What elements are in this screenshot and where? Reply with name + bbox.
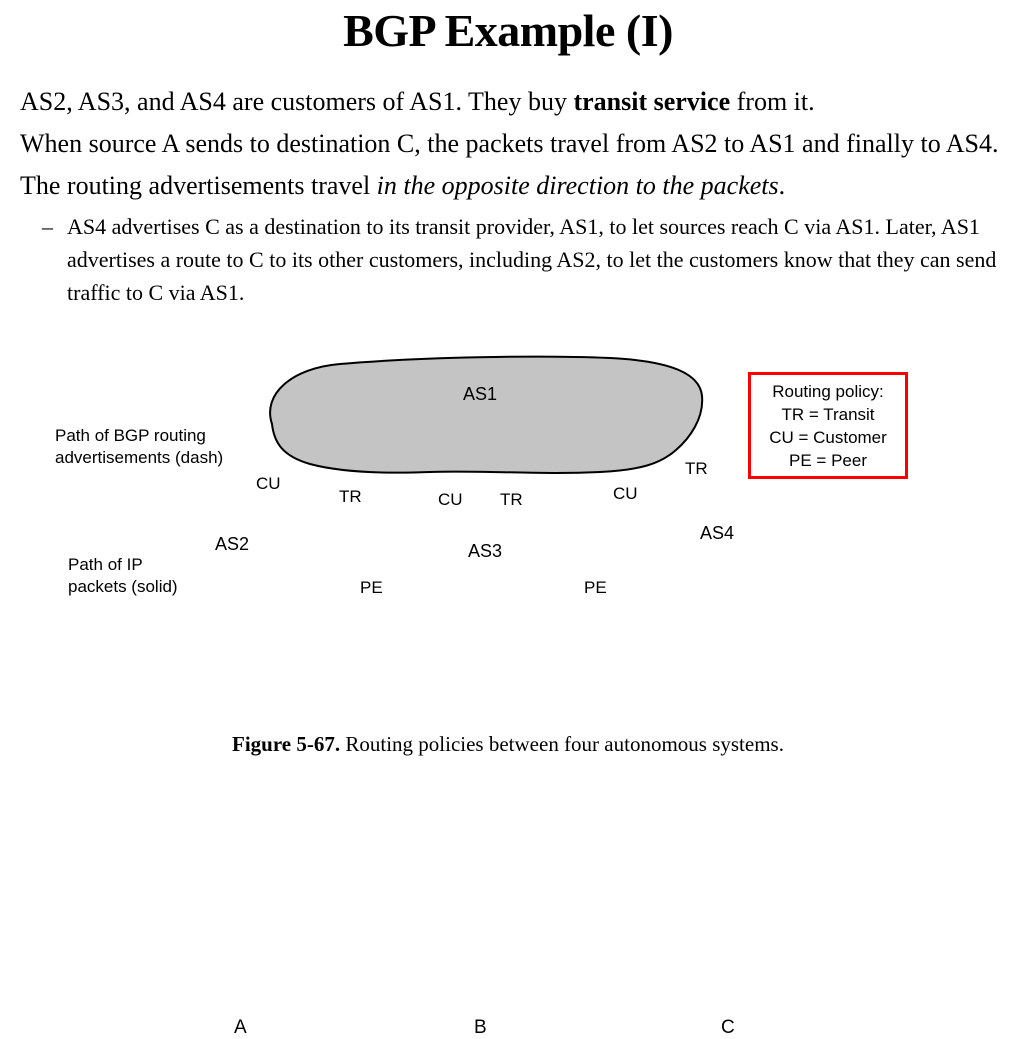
legend-entry-peer: PE = Peer [789, 449, 867, 472]
figure-caption-text: Routing policies between four autonomous… [345, 732, 784, 756]
bullet-item: – AS4 advertises C as a destination to i… [42, 210, 1002, 309]
as3-cu-label: CU [438, 490, 463, 510]
paragraph-3-seg-2-italic: in the opposite direction to the packets [377, 171, 779, 200]
as3-as4-pe-label: PE [584, 578, 607, 598]
page-title: BGP Example (I) [0, 4, 1016, 58]
ip-path-annotation: Path of IP packets (solid) [68, 554, 218, 598]
paragraph-3: The routing advertisements travel in the… [20, 166, 1002, 206]
as2-as3-pe-label: PE [360, 578, 383, 598]
ip-path-annotation-line2: packets (solid) [68, 576, 218, 598]
paragraph-1-seg-1: AS2, AS3, and AS4 are customers of AS1. … [20, 87, 573, 116]
legend-entry-customer: CU = Customer [769, 426, 887, 449]
host-b-label: B [474, 1017, 487, 1039]
as2-tr-label: TR [339, 487, 362, 507]
host-c-label: C [721, 1017, 735, 1039]
bgp-path-annotation: Path of BGP routing advertisements (dash… [55, 425, 255, 469]
paragraph-2-seg-1: When source A sends to destination C, th… [20, 129, 999, 158]
legend-title: Routing policy: [772, 380, 884, 403]
bgp-path-annotation-line1: Path of BGP routing [55, 425, 255, 447]
as4-tr-label: TR [685, 459, 708, 479]
figure-caption-lead: Figure 5-67. [232, 732, 340, 756]
paragraph-3-seg-3: . [779, 171, 786, 200]
paragraph-1: AS2, AS3, and AS4 are customers of AS1. … [20, 82, 1002, 122]
as3-label: AS3 [468, 541, 502, 561]
host-a-label: A [234, 1017, 247, 1039]
as3-tr-label: TR [500, 490, 523, 510]
as1-region-shape [270, 357, 702, 473]
as1-label: AS1 [463, 384, 497, 404]
body-text-block: AS2, AS3, and AS4 are customers of AS1. … [20, 82, 1002, 309]
slide-root: BGP Example (I) AS2, AS3, and AS4 are cu… [0, 0, 1016, 763]
bullet-dash-marker: – [42, 210, 53, 243]
paragraph-1-seg-3: from it. [730, 87, 815, 116]
as2-cu-label: CU [256, 474, 281, 494]
paragraph-3-seg-1: The routing advertisements travel [20, 171, 377, 200]
as4-label: AS4 [700, 523, 734, 543]
routing-policy-legend: Routing policy: TR = Transit CU = Custom… [748, 372, 908, 479]
legend-entry-transit: TR = Transit [781, 403, 874, 426]
paragraph-2: When source A sends to destination C, th… [20, 124, 1002, 164]
ip-path-annotation-line1: Path of IP [68, 554, 218, 576]
paragraph-1-seg-2-bold: transit service [573, 87, 730, 116]
bullet-text: AS4 advertises C as a destination to its… [67, 214, 996, 305]
as4-cu-label: CU [613, 484, 638, 504]
bgp-path-annotation-line2: advertisements (dash) [55, 447, 255, 469]
figure-caption: Figure 5-67. Routing policies between fo… [0, 730, 1016, 758]
as2-label: AS2 [215, 534, 249, 554]
